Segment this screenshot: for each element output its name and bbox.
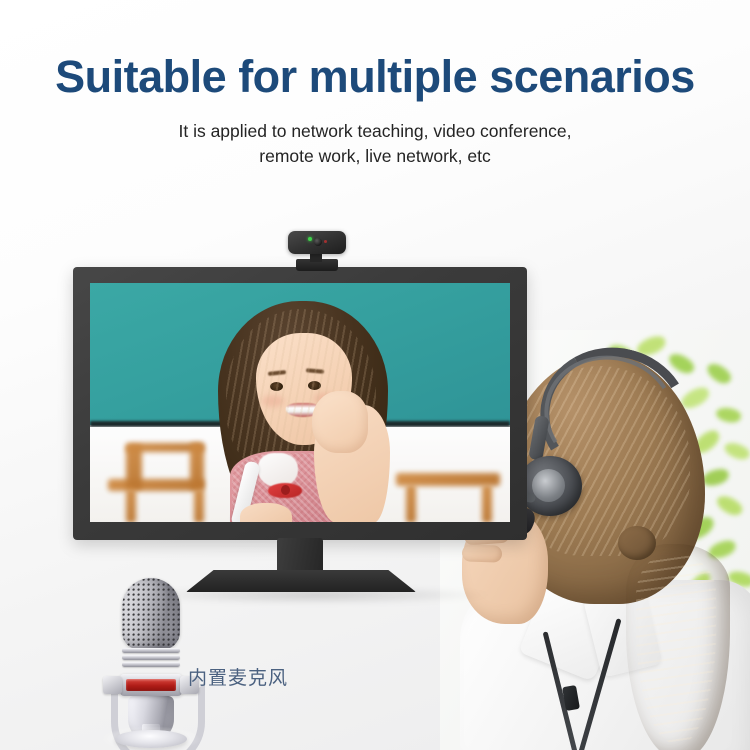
- classroom-desk-leg-2: [194, 489, 204, 522]
- red-bow-knot: [281, 485, 290, 495]
- microphone-ring-3: [122, 662, 180, 667]
- microphone-red-panel: [126, 679, 176, 691]
- girl-hand-holding-marker: [240, 503, 292, 522]
- girl-dress-collar: [258, 453, 298, 487]
- girl-hand-on-chin: [312, 391, 368, 453]
- microphone-base: [115, 730, 187, 748]
- microphone-ring-2: [122, 655, 180, 660]
- microphone-ring-1: [122, 648, 180, 653]
- subtitle-line-2: remote work, live network, etc: [0, 144, 750, 169]
- microphone-knob-left: [103, 676, 122, 694]
- ponytail-tie: [618, 526, 656, 560]
- microphone-mesh-head: [122, 578, 180, 650]
- product-feature-banner: Suitable for multiple scenarios It is ap…: [0, 0, 750, 750]
- monitor-stand-base: [186, 570, 416, 592]
- classroom-desk-right-leg: [406, 485, 416, 522]
- webcam-lens-icon: [314, 238, 322, 246]
- monitor-screen: [90, 283, 510, 522]
- subtitle-line-1: It is applied to network teaching, video…: [0, 119, 750, 144]
- webcam-led-icon: [308, 237, 312, 241]
- page-subtitle: It is applied to network teaching, video…: [0, 119, 750, 170]
- page-title: Suitable for multiple scenarios: [0, 52, 750, 102]
- classroom-chair-leg: [190, 443, 204, 489]
- microphone-icon: [95, 578, 207, 746]
- microphone-caption: 内置麦克风: [188, 663, 288, 690]
- webcam-indicator-dot: [324, 240, 327, 243]
- desktop-monitor: [73, 267, 527, 540]
- classroom-desk-right-leg-2: [482, 485, 492, 522]
- headset-earcup-center: [532, 469, 565, 502]
- classroom-desk-leg: [126, 489, 136, 522]
- finger-ring: [462, 544, 503, 562]
